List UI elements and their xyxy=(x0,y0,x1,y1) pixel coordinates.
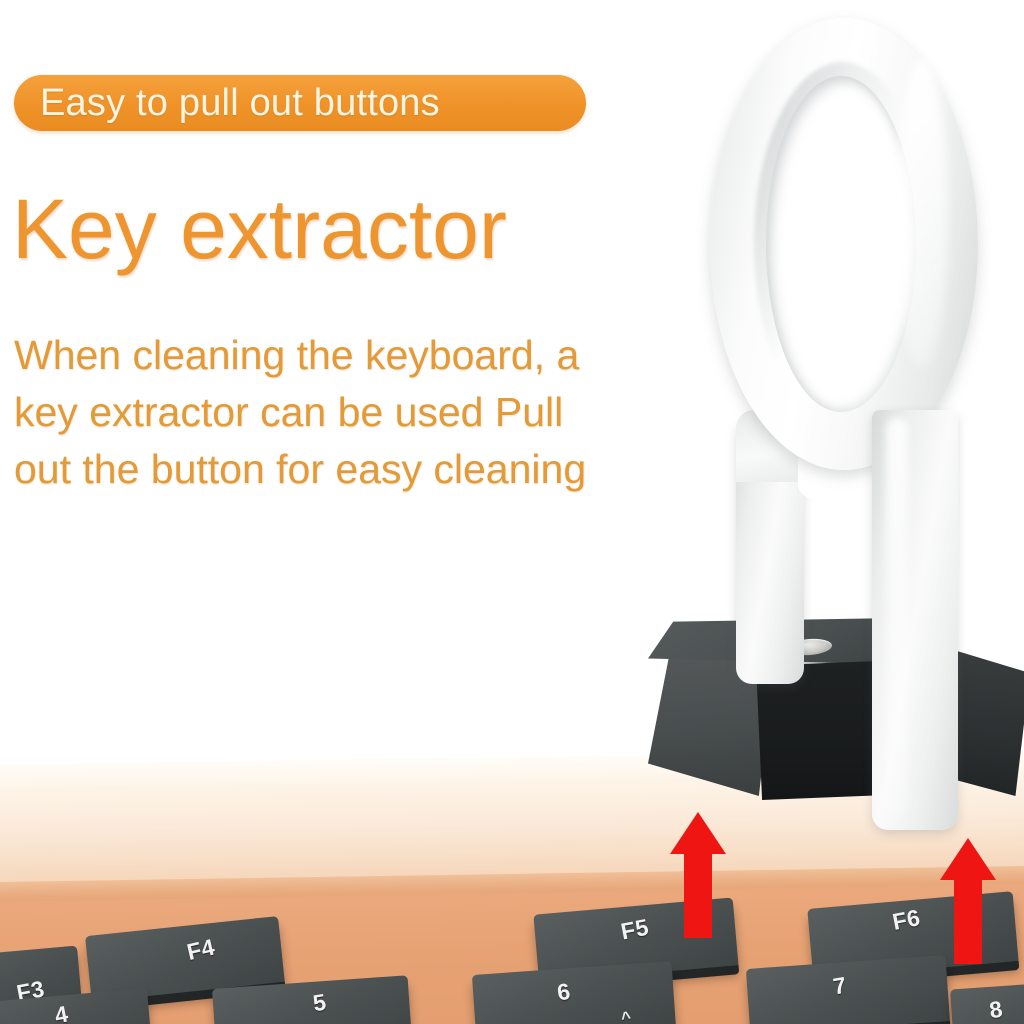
description-line-3: out the button for easy cleaning xyxy=(14,441,734,498)
arrow-up-right-shaft xyxy=(954,880,982,964)
key-extractor-tool xyxy=(700,18,1020,828)
product-image-canvas: F3 F4 4 5 F5 6 ^ F6 7 8 xyxy=(0,0,1024,1024)
keycap-6-sublabel: ^ xyxy=(620,1008,633,1024)
ring-hole xyxy=(766,76,916,412)
keycap-f4-label: F4 xyxy=(184,933,217,966)
keycap-4-label: 4 xyxy=(52,1001,70,1024)
keycap-5-label: 5 xyxy=(311,989,328,1018)
arrow-up-right-head xyxy=(940,838,996,880)
keycap-8-label: 8 xyxy=(987,996,1004,1024)
product-description: When cleaning the keyboard, a key extrac… xyxy=(14,327,734,498)
keycap-f5-label: F5 xyxy=(619,914,651,946)
prong-right-highlight xyxy=(886,418,908,818)
description-line-1: When cleaning the keyboard, a xyxy=(14,327,734,384)
description-line-2: key extractor can be used Pull xyxy=(14,384,734,441)
arrow-up-left-shaft xyxy=(684,854,712,938)
arrow-up-right xyxy=(940,838,996,964)
arrow-up-left xyxy=(670,812,726,938)
page-title: Key extractor xyxy=(12,183,507,275)
keycap-7-label: 7 xyxy=(831,972,848,1001)
ring-highlight xyxy=(896,58,948,368)
feature-badge-label: Easy to pull out buttons xyxy=(40,83,440,123)
feature-badge: Easy to pull out buttons xyxy=(14,75,586,131)
keycap-6-label: 6 xyxy=(555,978,572,1007)
prong-right xyxy=(872,410,958,830)
keycap-f6-label: F6 xyxy=(890,904,922,936)
